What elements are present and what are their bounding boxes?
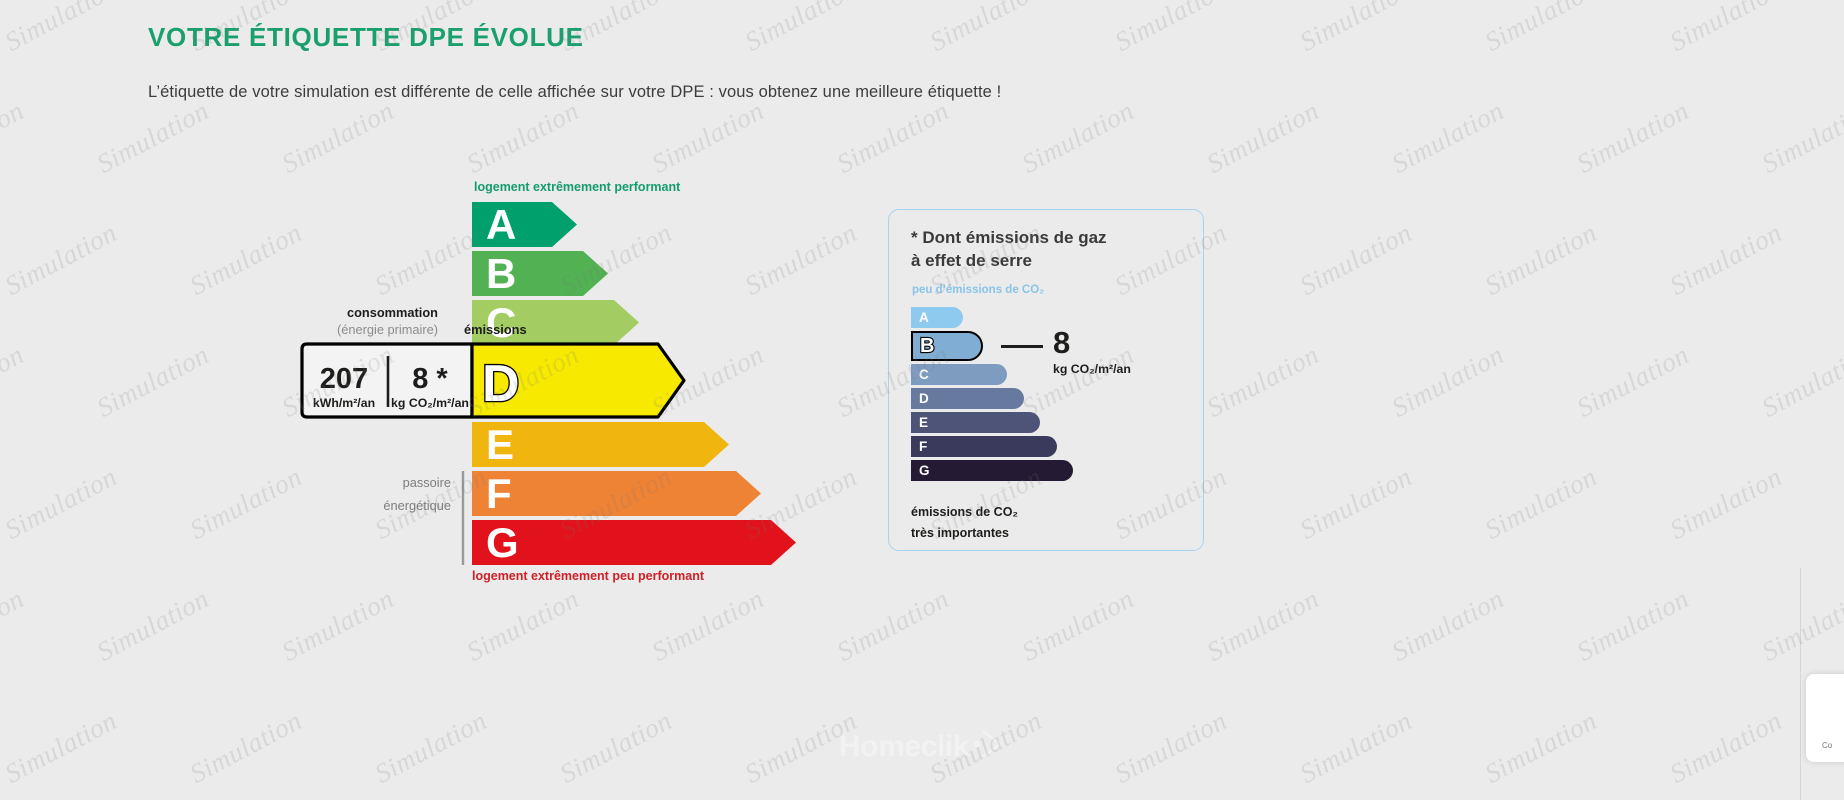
watermark-text: Simulation [1480,0,1602,58]
watermark-text: Simulation [1480,461,1602,546]
watermark-text: Simulation [0,339,29,424]
label-caption-top: logement extrêmement performant [474,180,681,194]
watermark-text: Simulation [1387,95,1509,180]
ges-letter-b: B [920,335,934,358]
watermark-text: Simulation [1017,95,1139,180]
watermark-text: Simulation [1572,583,1694,668]
page-subtitle: L’étiquette de votre simulation est diff… [148,83,1001,102]
ges-bar-row-e: E [911,412,1181,436]
ges-emissions-panel: * Dont émissions de gaz à effet de serre… [888,209,1204,551]
ges-panel-title: * Dont émissions de gaz à effet de serre [911,227,1151,273]
watermark-text: Simulation [92,583,214,668]
grade-bar-e: E [472,421,729,468]
ges-letter-e: E [919,415,928,430]
grade-bar-f: F [472,470,761,517]
ges-bar-row-d: D [911,388,1181,412]
watermark-text: Simulation [832,583,954,668]
grade-letter-e: E [486,421,514,468]
cookie-notice-text: Co [1822,741,1832,750]
emissions-value: 8 * [412,363,448,395]
ges-bar-row-f: F [911,436,1181,460]
dpe-energy-label: logement extrêmement performant A B C co… [296,176,816,586]
ges-letter-c: C [919,367,929,382]
watermark-text: Simulation [92,95,214,180]
watermark-text: Simulation [1295,217,1417,302]
watermark-text: Simulation [1202,95,1324,180]
watermark-text: Simulation [1110,0,1232,58]
watermark-text: Simulation [832,95,954,180]
ges-caption-top: peu d’émissions de CO₂ [912,284,1044,296]
watermark-text: Simulation [1295,461,1417,546]
grade-letter-a: A [486,201,516,248]
watermark-text: Simulation [1387,339,1509,424]
current-grade-letter: D [482,355,520,413]
consumption-label-line1: consommation [347,305,438,320]
cookie-notice-partial[interactable]: Co [1806,674,1844,762]
current-grade-row: 207 kWh/m²/an 8 * kg CO₂/m²/an D [302,344,684,417]
watermark-text: Simulation [1665,0,1787,58]
watermark-text: Simulation [1665,461,1787,546]
consumption-unit: kWh/m²/an [313,396,375,410]
ges-caption-bottom-line2: très importantes [911,526,1009,540]
chevron-right-icon [971,728,1005,765]
watermark-text: Simulation [185,217,307,302]
watermark-text: Simulation [647,583,769,668]
watermark-text: Simulation [1202,583,1324,668]
grade-letter-b: B [486,250,516,297]
page-title: VOTRE ÉTIQUETTE DPE ÉVOLUE [148,22,1001,53]
ges-letter-d: D [919,391,929,406]
watermark-text: Simulation [1480,217,1602,302]
emissions-label: émissions [464,322,527,337]
watermark-text: Simulation [1572,339,1694,424]
ges-bar-row-b: B 8 kg CO₂/m²/an [911,331,1181,364]
passoire-label-line2: énergétique [383,498,451,513]
page-header: VOTRE ÉTIQUETTE DPE ÉVOLUE L’étiquette d… [148,22,1001,102]
homeclik-logo-text: Homeclik [839,730,969,764]
ges-bar-row-a: A [911,307,1181,331]
ges-caption-bottom-line1: émissions de CO₂ [911,505,1018,519]
watermark-text: Simulation [647,95,769,180]
watermark-text: Simulation [1387,583,1509,668]
ges-bar-chart: A B 8 kg CO₂/m²/an C D E [911,307,1181,484]
grade-bar-a: A [472,201,577,248]
watermark-text: Simulation [185,461,307,546]
ges-caption-bottom: émissions de CO₂ très importantes [911,502,1018,545]
watermark-text: Simulation [1757,339,1844,424]
watermark-text: Simulation [277,583,399,668]
watermark-text: Simulation [0,217,122,302]
watermark-text: Simulation [1757,95,1844,180]
grade-letter-g: G [486,519,519,566]
watermark-text: Simulation [0,583,29,668]
ges-letter-f: F [919,439,927,454]
ges-bar-row-c: C [911,364,1181,388]
watermark-text: Simulation [0,95,29,180]
ges-value: 8 [1053,327,1131,358]
ges-bar-row-g: G [911,460,1181,484]
ges-title-line1: * Dont émissions de gaz [911,228,1107,247]
watermark-text: Simulation [92,339,214,424]
ges-connector-line [1001,345,1043,348]
watermark-text: Simulation [277,95,399,180]
watermark-text: Simulation [462,583,584,668]
grade-letter-f: F [486,470,512,517]
passoire-label-line1: passoire [403,475,451,490]
watermark-text: Simulation [0,461,122,546]
watermark-text: Simulation [1017,583,1139,668]
grade-bar-b: B [472,250,608,297]
homeclik-logo: Homeclik [0,728,1844,765]
watermark-text: Simulation [1295,0,1417,58]
watermark-text: Simulation [1665,217,1787,302]
page-edge-divider [1800,568,1801,800]
emissions-unit: kg CO₂/m²/an [391,396,469,410]
ges-letter-g: G [919,463,930,478]
grade-bar-g: G [472,519,796,566]
label-caption-bottom: logement extrêmement peu performant [472,569,705,583]
ges-letter-a: A [919,310,929,325]
watermark-text: Simulation [1572,95,1694,180]
watermark-text: Simulation [462,95,584,180]
consumption-label-line2: (énergie primaire) [337,322,438,337]
watermark-text: Simulation [1202,339,1324,424]
consumption-value: 207 [320,363,368,395]
ges-title-line2: à effet de serre [911,251,1032,270]
watermark-text: Simulation [0,0,122,58]
